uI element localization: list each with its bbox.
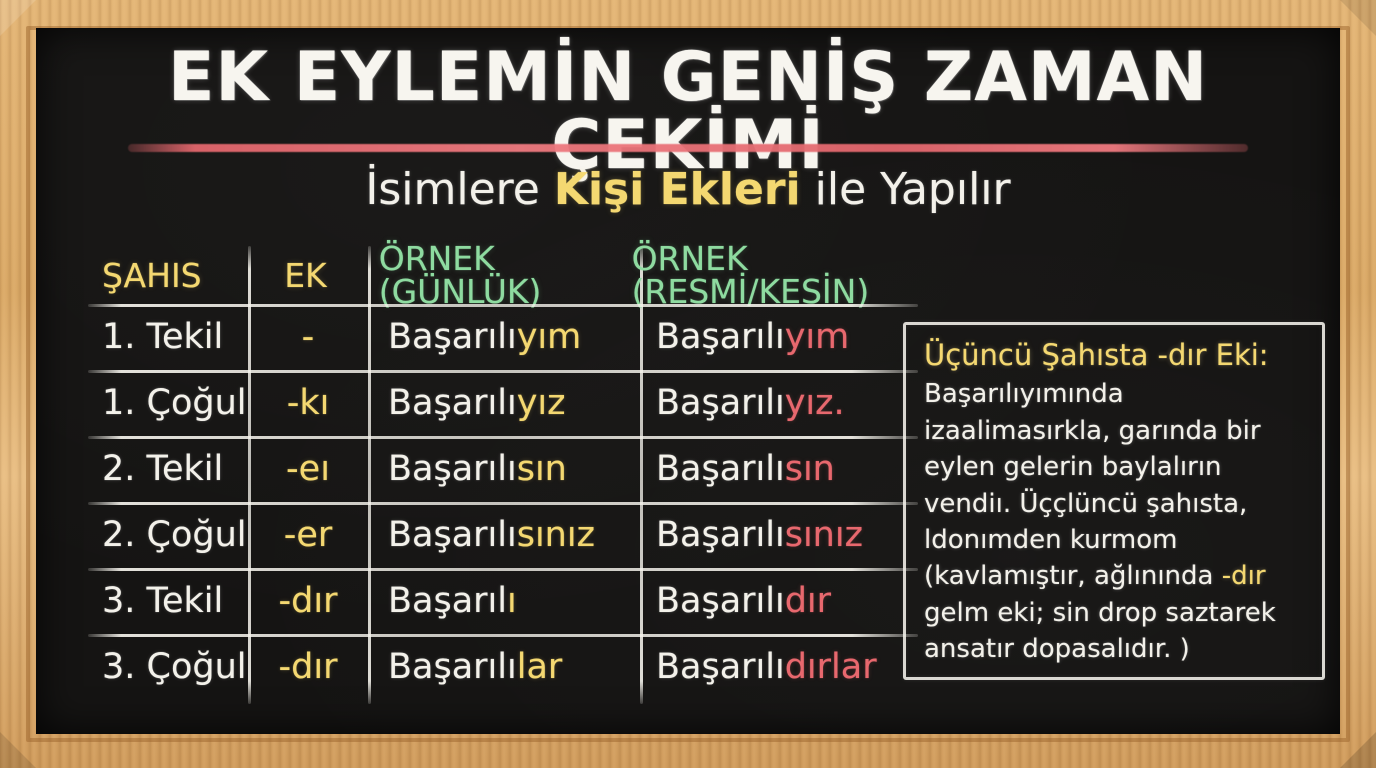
chalkboard: EK EYLEMİN GENİŞ ZAMAN ÇEKİMİ İsimlere K… [36,28,1340,734]
stem: Başarılı [388,317,517,357]
stem: Başarılı [656,317,785,357]
row-separator-line [88,370,918,373]
suffix: dır [785,581,831,621]
frame-corner-top-left [0,0,36,36]
table-row: 1. Tekil-BaşarılıyımBaşarılıyım [88,304,918,370]
suffix: sınız [785,515,863,555]
cell-ek: -dır [248,650,368,685]
cell-ornek-resmi: Başarılısınız [638,518,918,553]
suffix: dırlar [785,647,877,687]
stem: Başarıl [388,581,507,621]
cell-ornek-gunluk: Başarılı [368,584,638,619]
stem: Başarılı [656,449,785,489]
header-ornek-resmi: ÖRNEK (RESMİ/KESİN) [632,242,918,308]
stem: Başarılı [388,383,517,423]
note-body-part2: gelm eki; sin drop saztarek ansatır dopa… [924,598,1276,664]
note-body-part1: Başarılıyımında izaalimasırkla, garında … [924,379,1261,591]
cell-ek: -eı [248,452,368,487]
cell-ornek-gunluk: Başarılılar [368,650,638,685]
suffix: yız. [785,383,845,423]
cell-ornek-resmi: Başarılıdırlar [638,650,918,685]
suffix: sın [517,449,567,489]
cell-sahis: 3. Tekil [88,584,248,619]
stem: Başarılı [656,383,785,423]
header-ek: EK [246,259,365,292]
stem: Başarılı [388,515,517,555]
table-row: 3. Çoğul-dırBaşarılılarBaşarılıdırlar [88,634,918,700]
row-separator-line [88,502,918,505]
page-title: EK EYLEMİN GENİŞ ZAMAN ÇEKİMİ [36,44,1340,180]
suffix: sınız [517,515,595,555]
page-subtitle: İsimlere Kişi Ekleri ile Yapılır [36,164,1340,217]
cell-ornek-gunluk: Başarılıyız [368,386,638,421]
cell-sahis: 1. Tekil [88,320,248,355]
suffix: ı [507,581,517,621]
cell-ek: -er [248,518,368,553]
frame-corner-top-right [1340,0,1376,36]
stem: Başarılı [656,647,785,687]
cell-sahis: 1. Çoğul [88,386,248,421]
stem: Başarılı [656,581,785,621]
conjugation-table: ŞAHIS EK ÖRNEK (GÜNLÜK) ÖRNEK (RESMİ/KES… [88,246,918,700]
table-row: 1. Çoğul-kıBaşarılıyızBaşarılıyız. [88,370,918,436]
header-sahis: ŞAHIS [88,259,246,292]
cell-sahis: 3. Çoğul [88,650,248,685]
suffix: sın [785,449,835,489]
cell-sahis: 2. Tekil [88,452,248,487]
frame-corner-bottom-right [1340,732,1376,768]
table-row: 2. Tekil-eıBaşarılısınBaşarılısın [88,436,918,502]
cell-ornek-resmi: Başarılıyız. [638,386,918,421]
suffix: lar [517,647,563,687]
suffix: yız [517,383,566,423]
table-row: 3. Tekil-dırBaşarılıBaşarılıdır [88,568,918,634]
cell-sahis: 2. Çoğul [88,518,248,553]
frame-corner-bottom-left [0,732,36,768]
table-row: 2. Çoğul-erBaşarılısınızBaşarılısınız [88,502,918,568]
row-separator-line [88,568,918,571]
note-body-highlight: -dır [1222,561,1266,591]
cell-ornek-resmi: Başarılısın [638,452,918,487]
stem: Başarılı [656,515,785,555]
cell-ornek-resmi: Başarılıdır [638,584,918,619]
suffix: yım [785,317,850,357]
subtitle-before: İsimlere [365,164,553,215]
note-body: Başarılıyımında izaalimasırkla, garında … [924,376,1306,667]
cell-ornek-gunluk: Başarılıyım [368,320,638,355]
note-box: Üçüncü Şahısta -dır Eki: Başarılıyımında… [903,322,1325,680]
cell-ek: -dır [248,584,368,619]
subtitle-after: ile Yapılır [801,164,1011,215]
suffix: yım [517,317,582,357]
table-header-row: ŞAHIS EK ÖRNEK (GÜNLÜK) ÖRNEK (RESMİ/KES… [88,246,918,304]
cell-ornek-resmi: Başarılıyım [638,320,918,355]
row-separator-line [88,634,918,637]
stem: Başarılı [388,449,517,489]
stem: Başarılı [388,647,517,687]
wooden-frame: EK EYLEMİN GENİŞ ZAMAN ÇEKİMİ İsimlere K… [0,0,1376,768]
subtitle-highlight: Kişi Ekleri [554,164,801,215]
title-underline [128,144,1248,152]
cell-ornek-gunluk: Başarılısınız [368,518,638,553]
cell-ek: -kı [248,386,368,421]
cell-ek: - [248,320,368,355]
header-ornek-gunluk: ÖRNEK (GÜNLÜK) [365,242,632,308]
cell-ornek-gunluk: Başarılısın [368,452,638,487]
row-separator-line [88,436,918,439]
note-title: Üçüncü Şahısta -dır Eki: [924,339,1306,372]
